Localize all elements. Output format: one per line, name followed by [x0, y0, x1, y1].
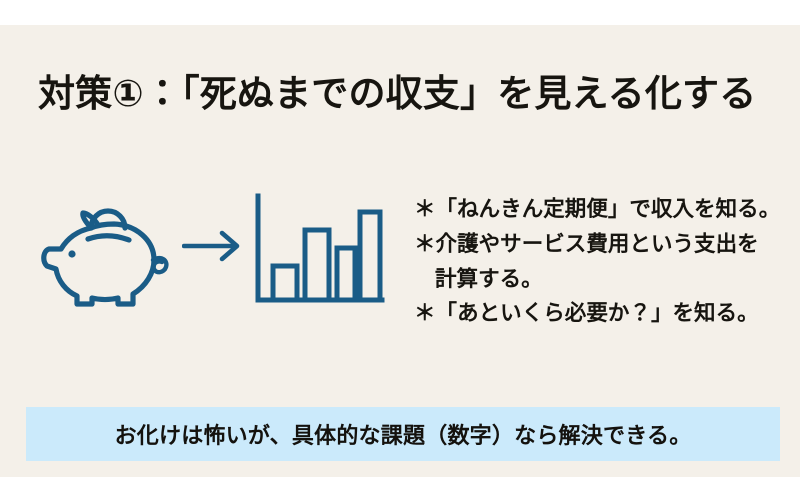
summary-banner-text: お化けは怖いが、具体的な課題（数字）なら解決できる。 [26, 407, 780, 461]
illustration-group [30, 186, 400, 326]
bullet-item-3: ＊「あといくら必要か？」を知る。 [414, 296, 788, 331]
page-title: 対策①：「死ぬまでの収支」を見える化する [38, 72, 778, 116]
summary-banner: お化けは怖いが、具体的な課題（数字）なら解決できる。 [26, 407, 780, 461]
right-arrow-icon [182, 229, 244, 268]
bar-chart-icon [248, 190, 388, 319]
piggy-bank-icon [36, 192, 176, 317]
bullet-item-1: ＊「ねんきん定期便」で収入を知る。 [414, 192, 788, 227]
bullet-list: ＊「ねんきん定期便」で収入を知る。 ＊介護やサービス費用という支出を 計算する。… [414, 192, 788, 331]
bullet-item-2: ＊介護やサービス費用という支出を [414, 227, 788, 262]
slide-canvas: 対策①：「死ぬまでの収支」を見える化する [0, 0, 800, 494]
bullet-item-2-continuation: 計算する。 [414, 262, 788, 297]
